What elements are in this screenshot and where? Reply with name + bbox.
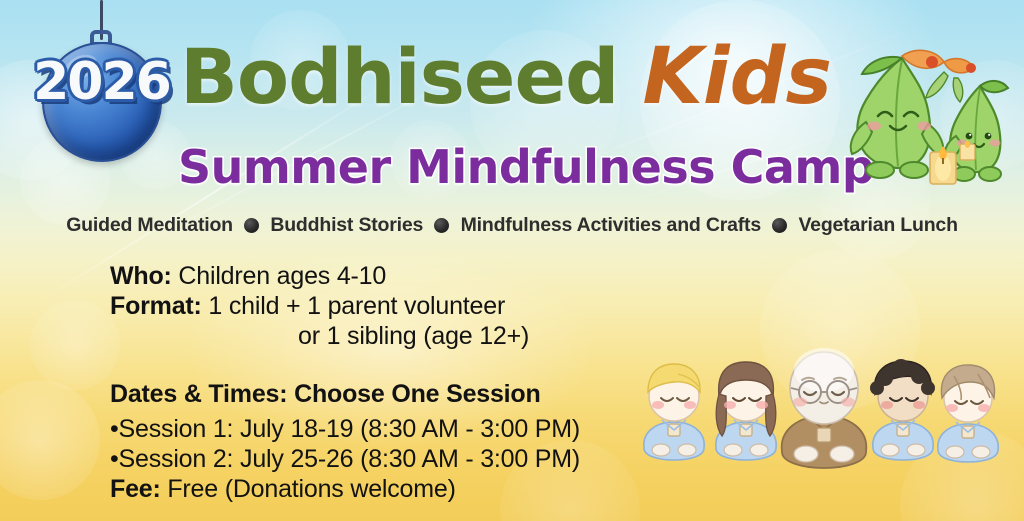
page-subtitle: Summer Mindfulness Camp [178, 140, 874, 194]
meditator-child-3 [870, 359, 935, 460]
page-title-accent: Kids [642, 38, 831, 116]
format-label: Format: [110, 292, 202, 320]
fee-label: Fee: [110, 475, 161, 503]
bullet-dot-icon [772, 218, 787, 233]
format-value: 1 child + 1 parent volunteer [202, 292, 505, 320]
who-value: Children ages 4-10 [172, 262, 386, 290]
meditator-child-2 [716, 362, 776, 460]
feature-item: Buddhist Stories [270, 214, 423, 236]
who-label: Who: [110, 262, 172, 290]
candle-icon [930, 146, 956, 184]
title-row: BodhiseedKids [180, 38, 820, 128]
seed-mascots-illustration [832, 48, 1012, 190]
fee-line: Fee: Free (Donations welcome) [110, 475, 456, 504]
page-title: Bodhiseed [180, 39, 618, 115]
fee-value: Free (Donations welcome) [161, 475, 456, 503]
bullet-dot-icon [244, 218, 259, 233]
meditator-monk [782, 348, 867, 468]
year-label: 2026 [24, 52, 179, 112]
session-2-item: •Session 2: July 25-26 (8:30 AM - 3:00 P… [110, 445, 580, 474]
feature-item: Guided Meditation [66, 214, 233, 236]
seed-mascots-icon [832, 48, 1012, 190]
camp-flyer: 2026 BodhiseedKids Summer Mindfulness Ca… [0, 0, 1024, 521]
who-line: Who: Children ages 4-10 [110, 262, 386, 291]
format-line: Format: 1 child + 1 parent volunteer [110, 292, 505, 321]
dates-heading: Dates & Times: Choose One Session [110, 380, 541, 409]
bullet-dot-icon [434, 218, 449, 233]
feature-item: Vegetarian Lunch [798, 214, 957, 236]
format-line-continued: or 1 sibling (age 12+) [298, 322, 529, 351]
feature-item: Mindfulness Activities and Crafts [461, 214, 761, 236]
session-1-item: •Session 1: July 18-19 (8:30 AM - 3:00 P… [110, 415, 580, 444]
meditating-figures-icon [628, 330, 1024, 470]
feature-list: Guided Meditation Buddhist Stories Mindf… [0, 214, 1024, 237]
meditators-illustration [628, 330, 1024, 470]
meditator-child-1 [644, 364, 704, 460]
meditator-child-4 [938, 365, 998, 462]
year-ornament: 2026 [24, 0, 179, 145]
